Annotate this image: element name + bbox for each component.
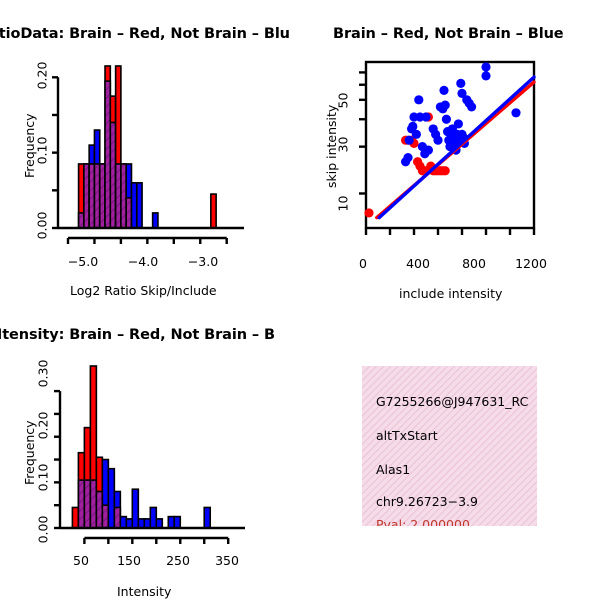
panel-intensity-histogram: ne Itensity: Brain – Red, Not Brain – B … [0,310,300,600]
ratio-histogram-bars [79,66,217,228]
scatter-fit-lines [377,77,534,218]
info-line-pval: Pval: 2.000000 [376,517,470,526]
intensity-histogram-svg [0,310,300,600]
scatter-svg [300,0,600,310]
panel-ratio-histogram: RatioData: Brain – Red, Not Brain – Blu … [0,0,300,310]
ratio-histogram-svg [0,0,300,310]
info-line-id: G7255266@J947631_RC [376,394,528,409]
info-line-location: chr9.26723−3.9 [376,494,478,509]
info-box: G7255266@J947631_RC altTxStart Alas1 chr… [362,366,537,526]
info-line-event-type: altTxStart [376,428,438,443]
panel-scatter: Brain – Red, Not Brain – Blue skip inten… [300,0,600,310]
plot-canvas: RatioData: Brain – Red, Not Brain – Blu … [0,0,600,600]
info-line-gene: Alas1 [376,462,410,477]
intensity-histogram-bars [72,366,210,528]
scatter-points [364,62,520,217]
